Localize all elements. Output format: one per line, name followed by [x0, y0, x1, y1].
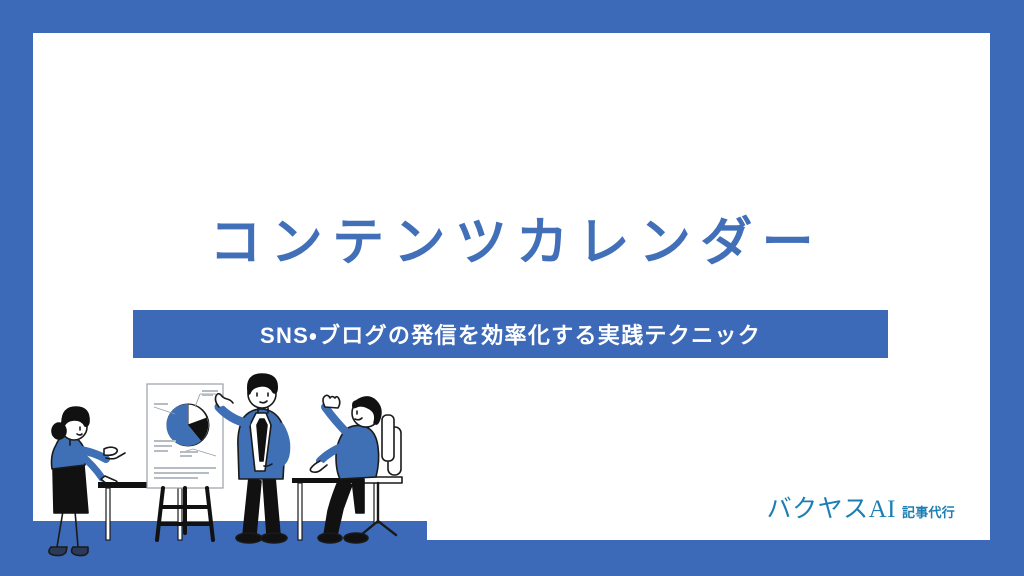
subtitle-text: SNS・ブログの発信を効率化する実践テクニック: [260, 318, 761, 350]
business-team-illustration: [30, 361, 430, 576]
slide-card: コンテンツカレンダー SNS・ブログの発信を効率化する実践テクニック バクヤスA…: [33, 33, 990, 540]
floor-band: [30, 361, 430, 576]
pie-chart-poster: [147, 384, 223, 540]
desk-right: [292, 478, 384, 540]
monitor: [382, 415, 394, 461]
figure-man-presenting: [215, 374, 287, 543]
logo-service-text: 記事代行: [902, 502, 955, 521]
logo-brand-text: バクヤスAI: [767, 489, 896, 525]
brand-logo: バクヤスAI 記事代行: [767, 489, 955, 525]
pie-chart: [166, 404, 209, 446]
page-title: コンテンツカレンダー: [33, 215, 990, 272]
desk-left: [98, 482, 190, 540]
figure-woman-pointing: [49, 407, 125, 556]
office-chair: [357, 427, 402, 535]
title-block: コンテンツカレンダー: [33, 215, 990, 272]
slide-root: コンテンツカレンダー SNS・ブログの発信を効率化する実践テクニック バクヤスA…: [0, 0, 1024, 576]
figure-seated-at-computer: [310, 395, 402, 543]
subtitle-banner: SNS・ブログの発信を効率化する実践テクニック: [133, 310, 888, 358]
